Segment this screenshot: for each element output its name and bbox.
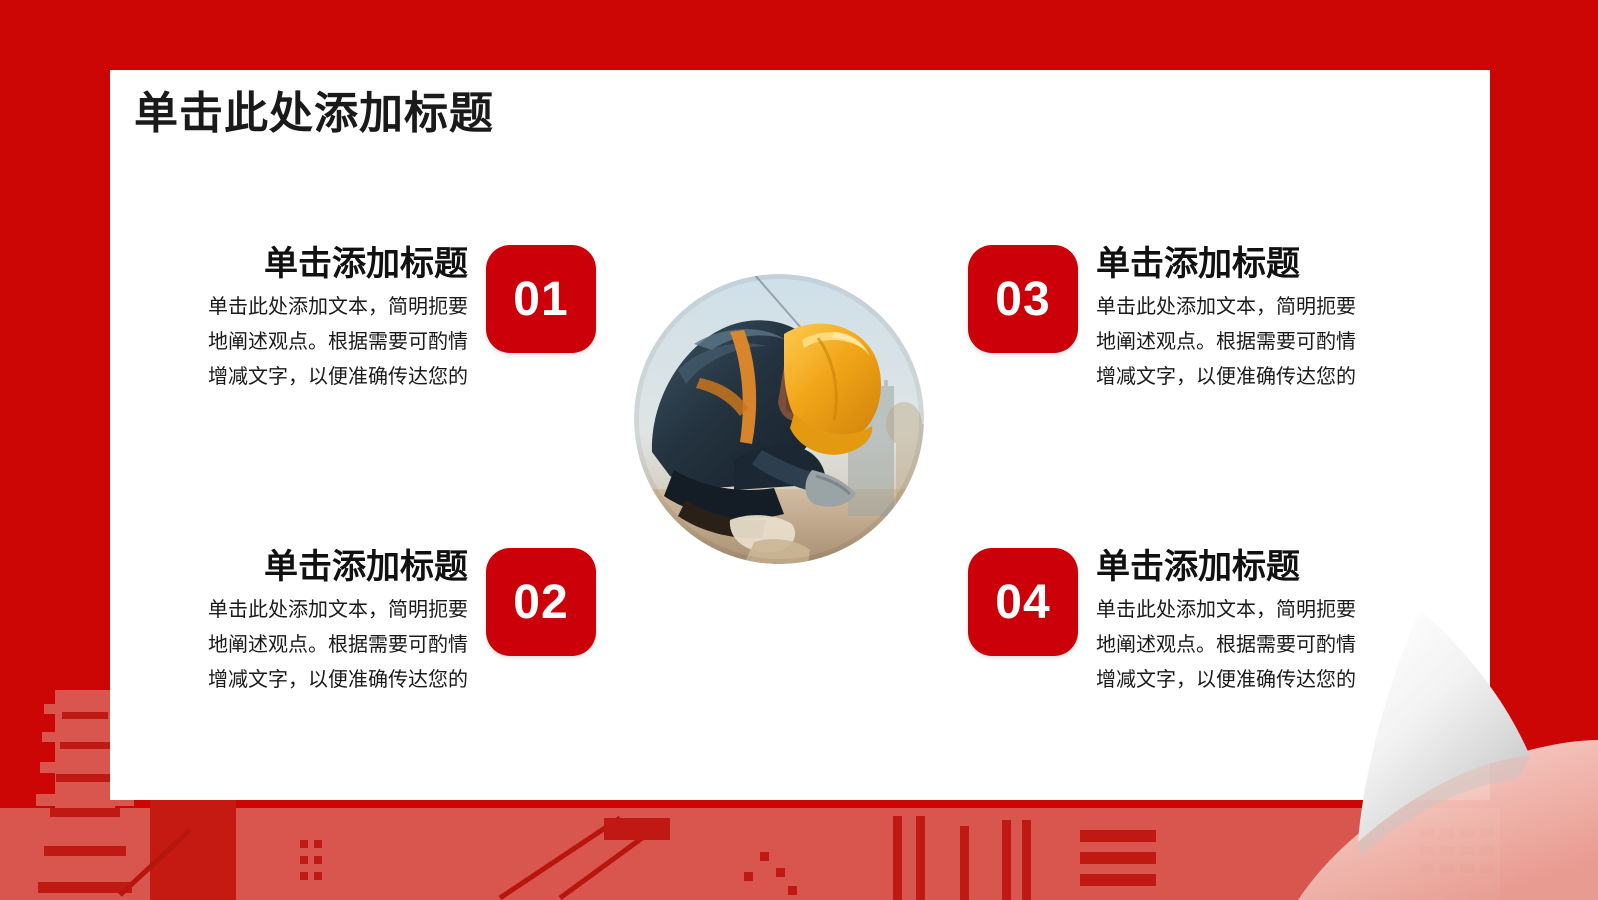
feature-item-04[interactable]: 04 单击添加标题 单击此处添加文本，简明扼要地阐述观点。根据需要可酌情增减文字… — [968, 548, 1366, 698]
feature-body-01: 单击此处添加文本，简明扼要地阐述观点。根据需要可酌情增减文字，以便准确传达您的 — [198, 290, 468, 395]
feature-item-03[interactable]: 03 单击添加标题 单击此处添加文本，简明扼要地阐述观点。根据需要可酌情增减文字… — [968, 245, 1366, 395]
center-photo — [634, 274, 924, 564]
feature-text-03: 单击添加标题 单击此处添加文本，简明扼要地阐述观点。根据需要可酌情增减文字，以便… — [1096, 245, 1366, 395]
feature-heading-04: 单击添加标题 — [1096, 548, 1366, 587]
slide-root: 单击此处添加标题 单击添加标题 单击此处添加文本，简明扼要地阐述观点。根据需要可… — [0, 0, 1598, 900]
feature-badge-03[interactable]: 03 — [968, 245, 1078, 353]
feature-badge-02[interactable]: 02 — [486, 548, 596, 656]
content-card: 单击此处添加标题 单击添加标题 单击此处添加文本，简明扼要地阐述观点。根据需要可… — [110, 70, 1490, 800]
feature-item-02[interactable]: 单击添加标题 单击此处添加文本，简明扼要地阐述观点。根据需要可酌情增减文字，以便… — [198, 548, 596, 698]
feature-body-04: 单击此处添加文本，简明扼要地阐述观点。根据需要可酌情增减文字，以便准确传达您的 — [1096, 593, 1366, 698]
feature-badge-04[interactable]: 04 — [968, 548, 1078, 656]
feature-heading-01: 单击添加标题 — [198, 245, 468, 284]
feature-heading-03: 单击添加标题 — [1096, 245, 1366, 284]
feature-text-01: 单击添加标题 单击此处添加文本，简明扼要地阐述观点。根据需要可酌情增减文字，以便… — [198, 245, 468, 395]
feature-text-04: 单击添加标题 单击此处添加文本，简明扼要地阐述观点。根据需要可酌情增减文字，以便… — [1096, 548, 1366, 698]
feature-badge-01[interactable]: 01 — [486, 245, 596, 353]
feature-body-03: 单击此处添加文本，简明扼要地阐述观点。根据需要可酌情增减文字，以便准确传达您的 — [1096, 290, 1366, 395]
feature-heading-02: 单击添加标题 — [198, 548, 468, 587]
feature-item-01[interactable]: 单击添加标题 单击此处添加文本，简明扼要地阐述观点。根据需要可酌情增减文字，以便… — [198, 245, 596, 395]
feature-body-02: 单击此处添加文本，简明扼要地阐述观点。根据需要可酌情增减文字，以便准确传达您的 — [198, 593, 468, 698]
feature-text-02: 单击添加标题 单击此处添加文本，简明扼要地阐述观点。根据需要可酌情增减文字，以便… — [198, 548, 468, 698]
